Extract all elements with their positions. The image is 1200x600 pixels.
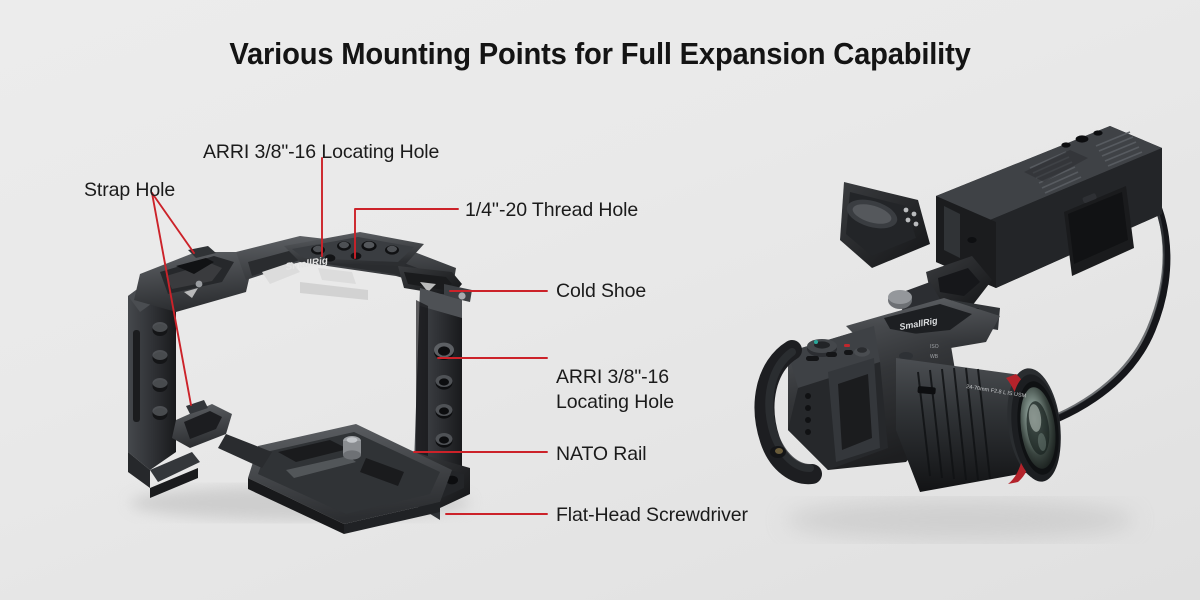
- camera-cage-illustration: SmallRig: [128, 232, 472, 534]
- camera-lens: 24-70mm F2.8 L IS USM: [896, 358, 1067, 492]
- svg-text:WB: WB: [930, 354, 939, 360]
- callout-arri-locating-hole-top: ARRI 3/8"-16 Locating Hole: [203, 140, 439, 165]
- callout-strap-hole: Strap Hole: [84, 178, 175, 203]
- infographic-canvas: Various Mounting Points for Full Expansi…: [0, 0, 1200, 600]
- callout-cold-shoe: Cold Shoe: [556, 279, 646, 304]
- callout-nato-rail: NATO Rail: [556, 442, 646, 467]
- camera-rig-illustration: SmallRig: [765, 126, 1167, 492]
- svg-text:ISO: ISO: [930, 344, 939, 350]
- callout-arri-locating-hole-side: ARRI 3/8"-16 Locating Hole: [556, 365, 674, 415]
- callout-flat-head-screwdriver: Flat-Head Screwdriver: [556, 503, 748, 528]
- callout-quarter-twenty-thread-hole: 1/4''-20 Thread Hole: [465, 198, 638, 223]
